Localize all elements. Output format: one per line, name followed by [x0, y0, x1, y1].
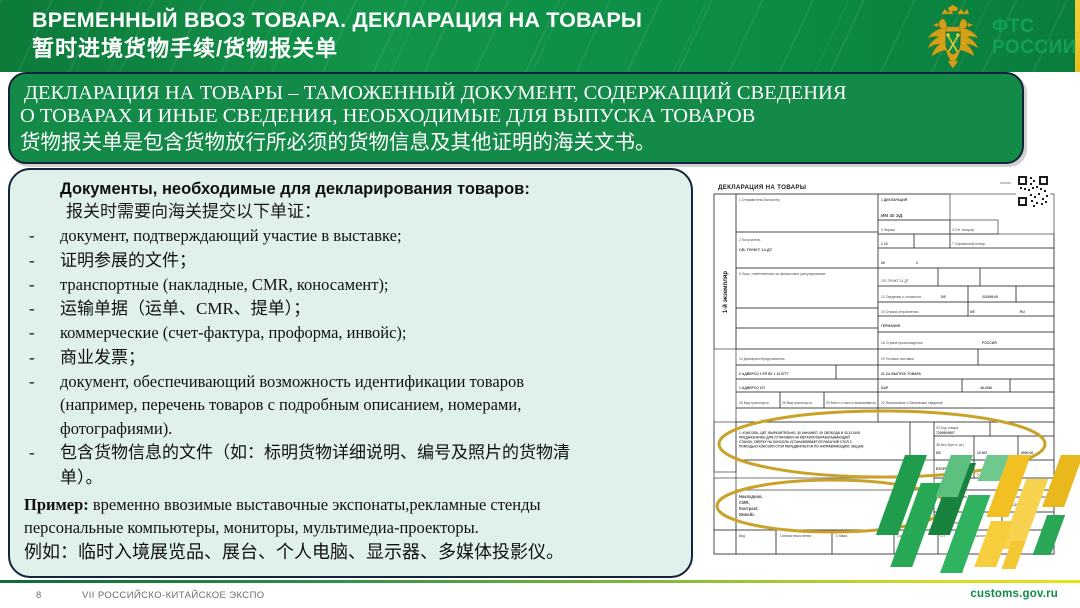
bullet-dash: -: [29, 249, 35, 273]
banner-line-1: ДЕКЛАРАЦИЯ НА ТОВАРЫ – ТАМОЖЕННЫЙ ДОКУМЕ…: [24, 82, 847, 105]
svg-text:4 Отг. специф.: 4 Отг. специф.: [952, 228, 975, 232]
list-item: - транспортные (накладные, CMR, коносаме…: [20, 274, 685, 297]
svg-text:48.2040: 48.2040: [980, 386, 992, 390]
footer-divider: [0, 580, 1080, 583]
svg-text:DE: DE: [970, 310, 975, 314]
list-item: - 包含货物信息的文件（如：标明货物详细说明、编号及照片的货物清: [20, 441, 685, 465]
svg-text:15 Страна отправления: 15 Страна отправления: [881, 310, 919, 314]
list-item: - 商业发票；: [20, 346, 685, 370]
bullet-dash: -: [29, 225, 35, 248]
header-title-group: ВРЕМЕННЫЙ ВВОЗ ТОВАРА. ДЕКЛАРАЦИЯ НА ТОВ…: [32, 6, 792, 64]
example-label: Пример:: [24, 495, 89, 514]
svg-text:14 Декларант/представитель: 14 Декларант/представитель: [739, 357, 785, 361]
svg-text:1 10: 1 10: [881, 242, 888, 246]
list-item-continuation: фотографиями).: [20, 418, 685, 441]
bullet-dash: -: [29, 441, 35, 465]
page-number: 8: [36, 590, 42, 601]
svg-text:29 Место и место вывоза/ввоза: 29 Место и место вывоза/ввоза: [826, 401, 876, 405]
list-item-label: 单）。: [60, 468, 103, 487]
svg-text:СТАНОК, СВЕРХУ НА КОНСОЛЬ УСТА: СТАНОК, СВЕРХУ НА КОНСОЛЬ УСТАНАВЛИВАЕТС…: [739, 440, 853, 444]
svg-text:7 Справочный номер: 7 Справочный номер: [952, 242, 985, 246]
list-item-label: транспортные (накладные, CMR, коносамент…: [60, 275, 389, 294]
list-item-label: коммерческие (счет-фактура, проформа, ин…: [60, 323, 407, 342]
list-item-label: документ, подтверждающий участие в выста…: [60, 226, 402, 245]
fts-logo-line1: ФТС: [992, 16, 1077, 37]
svg-text:7326909807: 7326909807: [936, 431, 955, 435]
bullet-dash: -: [29, 322, 35, 345]
documents-panel-content: Документы, необходимые для декларировани…: [10, 170, 695, 580]
list-item-continuation: 单）。: [20, 466, 685, 490]
svg-text:25 Вид транспорта: 25 Вид транспорта: [739, 401, 769, 405]
documents-panel: Документы, необходимые для декларировани…: [8, 168, 693, 578]
list-item-continuation: (например, перечень товаров с подробным …: [20, 394, 685, 417]
example-text-1: временно ввозимые выставочные экспонаты,…: [89, 495, 541, 514]
bullet-dash: -: [29, 371, 35, 394]
svg-text:20 Условия поставки: 20 Условия поставки: [881, 357, 914, 361]
svg-text:ГЕРМАНИЯ: ГЕРМАНИЯ: [881, 324, 901, 328]
svg-text:ИМ 40 ЭД: ИМ 40 ЭД: [881, 213, 903, 218]
form-caption: ДЕКЛАРАЦИЯ НА ТОВАРЫ: [718, 184, 806, 191]
svg-text:2 Получатель: 2 Получатель: [739, 238, 761, 242]
svg-text:ПРЕДНАЗНАЧЕН ДЛЯ УСТАНОВКИ НА: ПРЕДНАЗНАЧЕН ДЛЯ УСТАНОВКИ НА МЕТАЛЛООБР…: [739, 436, 850, 440]
svg-text:DE: DE: [941, 295, 946, 299]
fts-logo-text: ФТС РОССИИ: [992, 16, 1077, 58]
svg-text:DAP: DAP: [881, 386, 889, 390]
svg-text:1. КОНСОЛЬ -ЦЕТ, ВЫРАЗИТЕЛЬНО,: 1. КОНСОЛЬ -ЦЕТ, ВЫРАЗИТЕЛЬНО, 30 АННАНЕ…: [739, 431, 860, 435]
svg-text:Вид: Вид: [739, 534, 745, 538]
example-line-1: Пример: временно ввозимые выставочные эк…: [24, 493, 685, 516]
list-item-label: (например, перечень товаров с подробным …: [60, 395, 521, 414]
list-item-label: 商业发票；: [60, 348, 145, 367]
list-item-label: фотографиями).: [60, 419, 172, 438]
bullet-dash: -: [29, 346, 35, 370]
list-item: - 运输单据（运单、CMR、提单）；: [20, 297, 685, 321]
list-item: - документ, обеспечивающий возможность и…: [20, 371, 685, 394]
banner-line-zh: 货物报关单是包含货物放行所必须的货物信息及其他证明的海关文书。: [20, 130, 656, 156]
svg-text:38 Вес брутто (кг): 38 Вес брутто (кг): [936, 443, 964, 447]
list-item: - документ, подтверждающий участие в выс…: [20, 225, 685, 248]
svg-text:21 CA ВЫПУСК ТОВАРА: 21 CA ВЫПУСК ТОВАРА: [881, 372, 922, 376]
svg-text:12 Сведения о стоимости: 12 Сведения о стоимости: [881, 295, 921, 299]
form-side-label: 1-й экземпляр: [722, 271, 729, 314]
footer-website[interactable]: customs.gov.ru: [970, 588, 1058, 600]
page-title-zh: 暂时进境货物手续/货物报关单: [32, 34, 792, 64]
example-line-2: персональные компьютеры, мониторы, мульт…: [24, 516, 685, 539]
list-item-label: 包含货物信息的文件（如：标明货物详细说明、编号及照片的货物清: [60, 443, 570, 462]
chevron-pattern-icon: [855, 455, 1080, 580]
bullet-dash: -: [29, 274, 35, 297]
svg-text:16 Страна происхождения: 16 Страна происхождения: [881, 341, 923, 345]
svg-text:26: 26: [881, 261, 885, 265]
svg-text:3 Формы: 3 Формы: [881, 228, 896, 232]
footer-expo-label: VII РОССИЙСКО-КИТАЙСКОЕ ЭКСПО: [82, 590, 265, 601]
documents-list: - документ, подтверждающий участие в выс…: [20, 225, 685, 490]
double-headed-eagle-emblem-icon: [920, 4, 986, 70]
svg-text:Ставка: Ставка: [836, 534, 847, 538]
banner-line-2: О ТОВАРАХ И ИНЫЕ СВЕДЕНИЯ, НЕОБХОДИМЫЕ Д…: [20, 105, 755, 128]
svg-text:33 Код товара: 33 Код товара: [936, 426, 958, 430]
svg-text:ПОМОЩЬЮ КОНСОЛИ СТОЛ ПЕРЕДВИГА: ПОМОЩЬЮ КОНСОЛИ СТОЛ ПЕРЕДВИГАЕТСЯ ПО НА…: [739, 445, 864, 449]
list-item: - коммерческие (счет-фактура, проформа, …: [20, 322, 685, 345]
svg-text:Накладная,: Накладная,: [739, 494, 763, 499]
svg-text:Контракт,: Контракт,: [739, 506, 759, 511]
decorative-chevrons: [855, 455, 1080, 580]
svg-text:222459.00: 222459.00: [982, 295, 998, 299]
list-item-label: документ, обеспечивающий возможность иде…: [60, 372, 524, 391]
fts-logo-line2: РОССИИ: [992, 37, 1077, 58]
fts-logo: ФТС РОССИИ: [918, 2, 1070, 72]
list-item-label: 证明参展的文件；: [60, 251, 196, 270]
definition-banner: ДЕКЛАРАЦИЯ НА ТОВАРЫ – ТАМОЖЕННЫЙ ДОКУМЕ…: [8, 72, 1024, 164]
page-title-ru: ВРЕМЕННЫЙ ВВОЗ ТОВАРА. ДЕКЛАРАЦИЯ НА ТОВ…: [32, 6, 792, 34]
svg-text:СВ. ПУНКТ 14 ДТ: СВ. ПУНКТ 14 ДТ: [739, 247, 773, 252]
documents-heading-zh: 报关时需要向海关提交以下单证：: [66, 200, 685, 224]
svg-text:22 Финансовые и банковские све: 22 Финансовые и банковские сведения: [881, 401, 943, 405]
svg-text:8 Лицо, ответственное за финан: 8 Лицо, ответственное за финансовое урег…: [739, 272, 826, 276]
svg-text:2 АДВЕРСО 1 ЕП ВУ 1 14 5777: 2 АДВЕРСО 1 ЕП ВУ 1 14 5777: [739, 372, 789, 376]
svg-text:СВ. ПУНКТ 14 ДТ: СВ. ПУНКТ 14 ДТ: [881, 279, 909, 283]
example-block: Пример: временно ввозимые выставочные эк…: [20, 493, 685, 565]
example-line-zh: 例如：临时入境展览品、展台、个人电脑、显示器、多媒体投影仪。: [24, 539, 685, 565]
svg-text:Основа начисления: Основа начисления: [780, 534, 811, 538]
svg-text:1 Отправитель/Экспортёр: 1 Отправитель/Экспортёр: [739, 198, 780, 202]
svg-text:1 ДЕКЛАРАЦИЯ: 1 ДЕКЛАРАЦИЯ: [881, 198, 908, 202]
list-item: - 证明参展的文件；: [20, 249, 685, 273]
svg-text:1 АДВЕРСО 107: 1 АДВЕРСО 107: [739, 386, 765, 390]
svg-text:2: 2: [916, 261, 918, 265]
list-item-label: 运输单据（运单、CMR、提单）；: [60, 299, 310, 318]
bullet-dash: -: [29, 297, 35, 321]
svg-text:26 Вид транспорта: 26 Вид транспорта: [782, 401, 812, 405]
svg-text:РОССИЯ: РОССИЯ: [982, 341, 997, 345]
svg-text:Инвойс: Инвойс: [739, 512, 755, 517]
svg-text:КОПИЯ: КОПИЯ: [1000, 181, 1011, 185]
svg-text:RU: RU: [1020, 310, 1025, 314]
svg-text:CMR,: CMR,: [739, 500, 750, 505]
documents-heading-ru: Документы, необходимые для декларировани…: [60, 178, 685, 200]
